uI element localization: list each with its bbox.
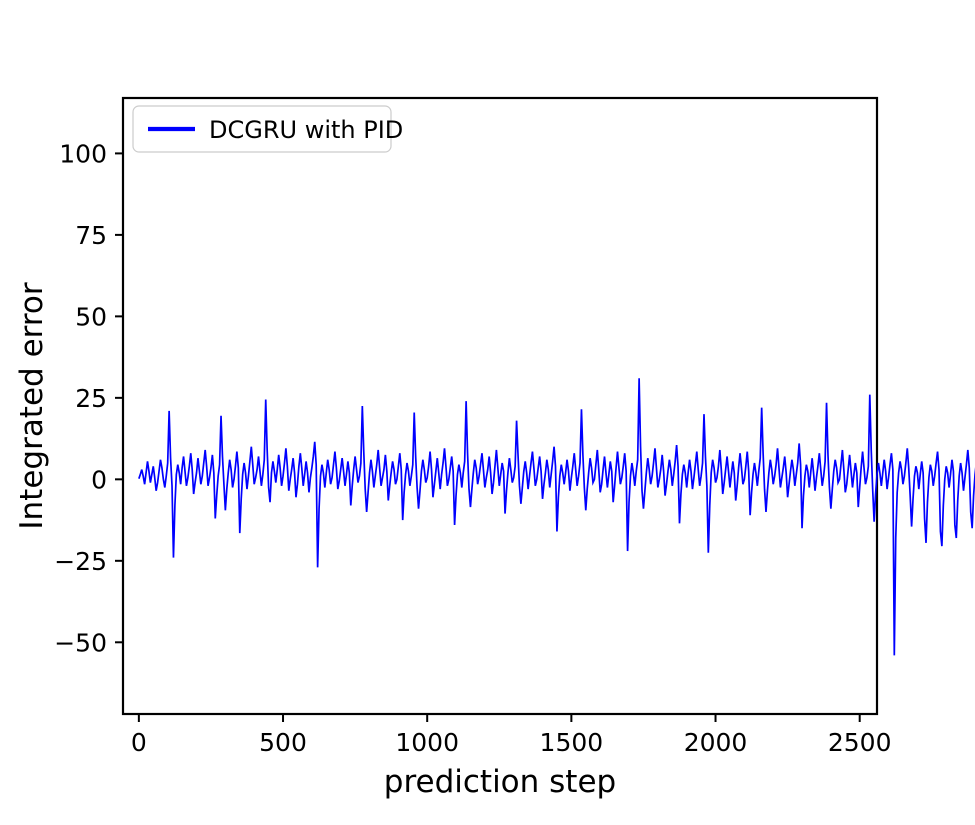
y-axis-title: Integrated error bbox=[14, 282, 50, 529]
y-tick-label: 25 bbox=[75, 384, 107, 413]
x-tick-label: 2000 bbox=[684, 728, 748, 757]
x-axis-title: prediction step bbox=[384, 764, 616, 800]
y-tick-group: −50−250255075100 bbox=[54, 139, 123, 657]
data-series-group bbox=[139, 127, 975, 691]
y-tick-label: −50 bbox=[54, 628, 107, 657]
plot-frame bbox=[123, 98, 877, 714]
y-tick-label: 75 bbox=[75, 221, 107, 250]
figure-container: 05001000150020002500 −50−250255075100 DC… bbox=[0, 0, 975, 825]
x-tick-label: 1000 bbox=[395, 728, 459, 757]
x-tick-label: 2500 bbox=[828, 728, 892, 757]
chart-legend: DCGRU with PID bbox=[133, 106, 403, 152]
axes-frame bbox=[123, 98, 877, 714]
y-tick-label: −25 bbox=[54, 547, 107, 576]
series-line-dcgru-with-pid bbox=[139, 127, 975, 691]
x-tick-label: 0 bbox=[131, 728, 147, 757]
legend-label: DCGRU with PID bbox=[209, 116, 403, 144]
y-tick-label: 100 bbox=[59, 139, 107, 168]
x-tick-label: 1500 bbox=[540, 728, 604, 757]
x-tick-group: 05001000150020002500 bbox=[131, 714, 892, 757]
y-tick-label: 50 bbox=[75, 302, 107, 331]
line-chart: 05001000150020002500 −50−250255075100 DC… bbox=[0, 0, 975, 825]
x-tick-label: 500 bbox=[259, 728, 307, 757]
y-tick-label: 0 bbox=[91, 465, 107, 494]
